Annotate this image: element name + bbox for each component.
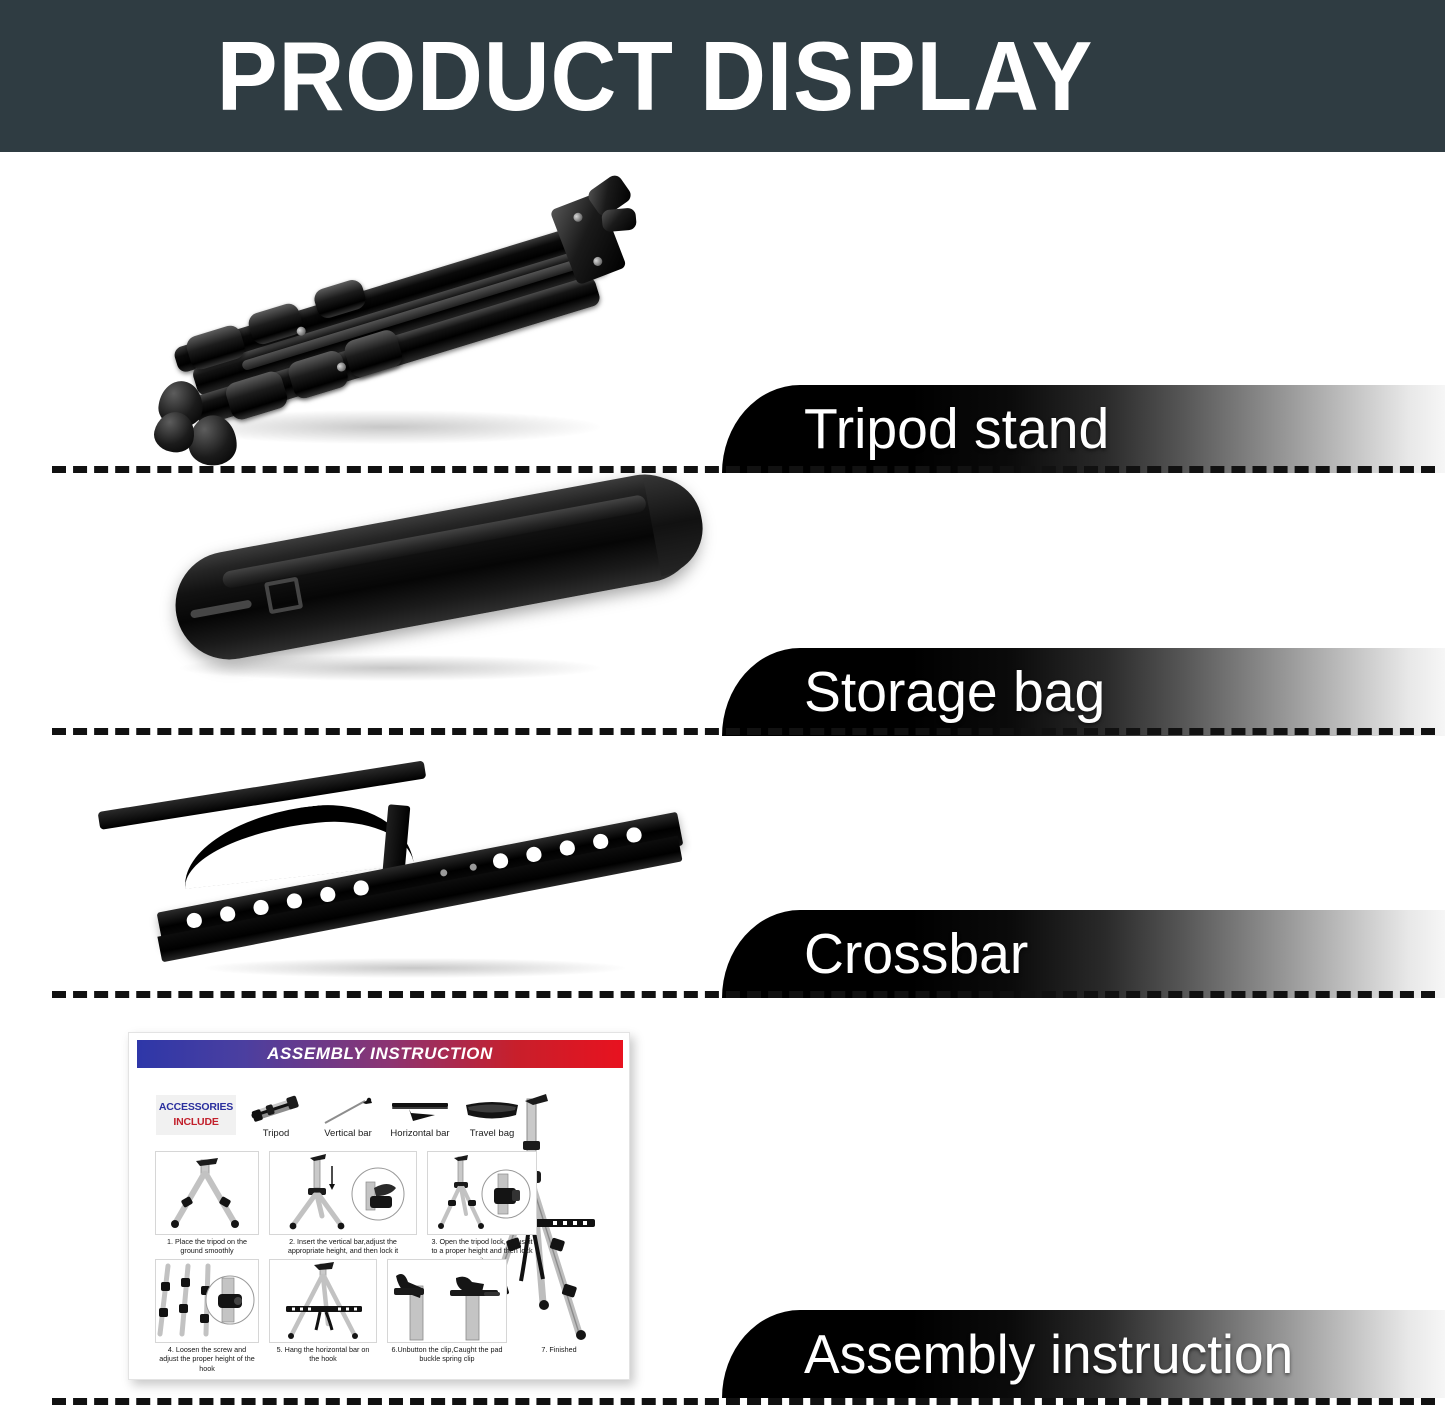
crossbar-hole	[252, 899, 270, 917]
step-3-image	[427, 1151, 537, 1235]
bag-seam	[221, 494, 647, 589]
step-4: 4. Loosen the screw and adjust the prope…	[155, 1259, 259, 1343]
accessories-heading-line-2: INCLUDE	[173, 1115, 218, 1130]
horizontal-bar-thumb-icon	[385, 1093, 455, 1125]
step-7: 7. Finished	[501, 1345, 617, 1354]
step-7-caption: 7. Finished	[501, 1345, 617, 1354]
tripod-head-clamp	[601, 207, 637, 232]
crossbar-hole	[286, 892, 304, 910]
instruction-sheet-header: ASSEMBLY INSTRUCTION	[137, 1040, 623, 1068]
accessory-vertical-bar: Vertical bar	[313, 1093, 383, 1139]
instruction-sheet-title: ASSEMBLY INSTRUCTION	[267, 1044, 493, 1064]
step-1-image	[155, 1151, 259, 1235]
accessory-label-vertical-bar: Vertical bar	[313, 1128, 383, 1139]
crossbar-hole	[625, 826, 643, 844]
step-2-caption: 2. Insert the vertical bar,adjust the ap…	[269, 1237, 417, 1256]
step-2-image	[269, 1151, 417, 1235]
step-6: 6.Unbutton the clip,Caught the pad buckl…	[387, 1259, 507, 1343]
divider-2	[52, 728, 1435, 735]
vertical-bar-thumb-icon	[313, 1093, 383, 1125]
step-1-caption: 1. Place the tripod on the ground smooth…	[155, 1237, 259, 1256]
crossbar-photo	[85, 790, 725, 990]
bag-body	[167, 466, 708, 669]
accessory-label-horizontal-bar: Horizontal bar	[385, 1128, 455, 1139]
step-3: 3. Open the tripod lock, adjust it to a …	[427, 1151, 537, 1235]
bag-strap-loop	[264, 577, 303, 615]
item-label-storage-bag: Storage bag	[804, 648, 1105, 736]
item-label-assembly-instruction: Assembly instruction	[804, 1310, 1293, 1398]
crossbar-hole	[185, 912, 203, 930]
divider-1	[52, 466, 1435, 473]
step-4-image	[155, 1259, 259, 1343]
page-title: PRODUCT DISPLAY	[46, 22, 1264, 130]
tripod-thumb-icon	[241, 1093, 311, 1125]
accessory-tripod: Tripod	[241, 1093, 311, 1139]
step-6-image	[387, 1259, 507, 1343]
crossbar-hole	[525, 846, 543, 864]
item-label-crossbar: Crossbar	[804, 910, 1028, 998]
divider-3	[52, 991, 1435, 998]
crossbar-hole	[492, 852, 510, 870]
bag-zipper	[190, 599, 252, 618]
folded-tripod-photo	[130, 205, 730, 455]
assembly-instruction-sheet: ASSEMBLY INSTRUCTION ACCESSORIES INCLUDE…	[128, 1032, 630, 1380]
crossbar-hole	[592, 833, 610, 851]
item-banner-tripod-stand: Tripod stand X1	[722, 385, 1445, 473]
step-2: 2. Insert the vertical bar,adjust the ap…	[269, 1151, 417, 1235]
crossbar-hole	[558, 839, 576, 857]
bag-end-cap	[643, 469, 710, 576]
page-header: PRODUCT DISPLAY	[0, 0, 1445, 152]
storage-bag-photo	[150, 495, 730, 710]
step-5: 5. Hang the horizontal bar on the hook	[269, 1259, 377, 1343]
item-banner-assembly-instruction: Assembly instruction X1	[722, 1310, 1445, 1398]
accessories-include-box: ACCESSORIES INCLUDE	[156, 1095, 236, 1135]
crossbar-hole	[352, 879, 370, 897]
crossbar-shadow	[205, 958, 625, 978]
tripod-foot-2	[188, 415, 237, 466]
item-banner-storage-bag: Storage bag X1	[722, 648, 1445, 736]
accessory-horizontal-bar: Horizontal bar	[385, 1093, 455, 1139]
bag-shadow	[180, 655, 600, 681]
crossbar-hole	[219, 905, 237, 923]
step-1: 1. Place the tripod on the ground smooth…	[155, 1151, 259, 1235]
item-label-tripod-stand: Tripod stand	[804, 385, 1109, 473]
step-4-caption: 4. Loosen the screw and adjust the prope…	[155, 1345, 259, 1373]
accessories-heading-line-1: ACCESSORIES	[159, 1100, 233, 1115]
crossbar-hole	[319, 886, 337, 904]
item-banner-crossbar: Crossbar X1	[722, 910, 1445, 998]
accessory-label-tripod: Tripod	[241, 1128, 311, 1139]
step-6-caption: 6.Unbutton the clip,Caught the pad buckl…	[387, 1345, 507, 1364]
divider-4	[52, 1398, 1435, 1405]
crossbar-rivet	[440, 869, 448, 877]
crossbar-rivet	[469, 863, 477, 871]
step-5-image	[269, 1259, 377, 1343]
step-5-caption: 5. Hang the horizontal bar on the hook	[269, 1345, 377, 1364]
